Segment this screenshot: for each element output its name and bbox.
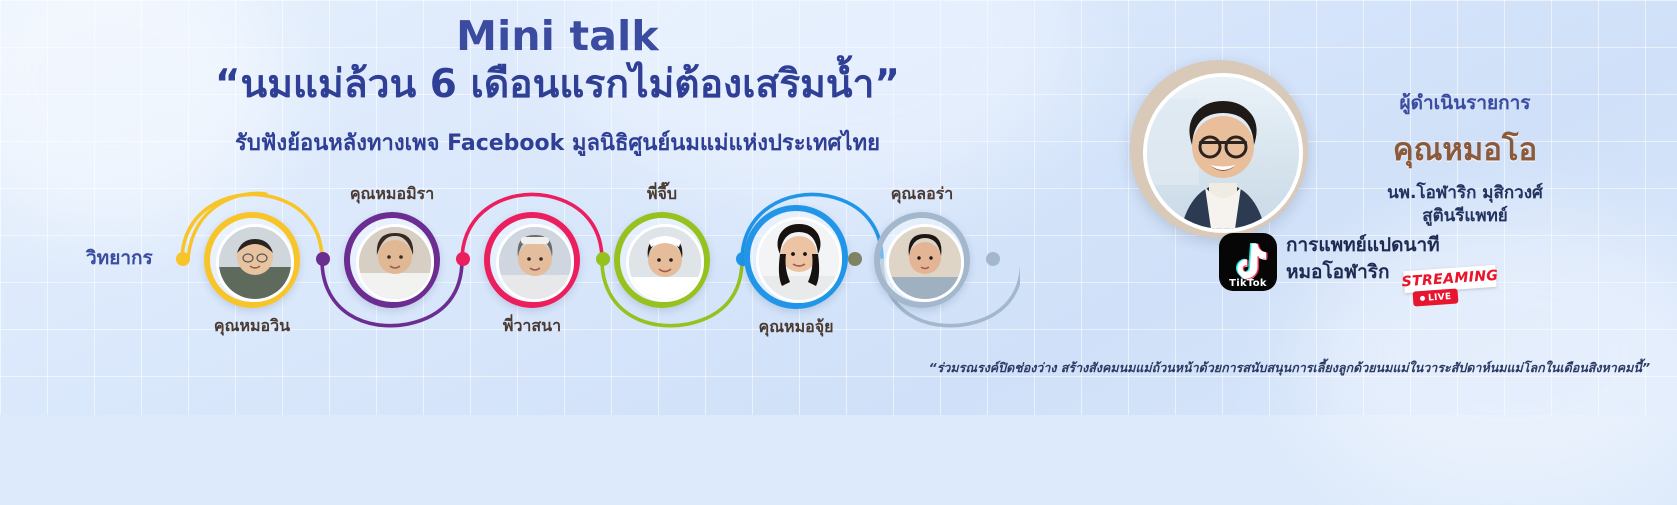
subtitle: รับฟังย้อนหลังทางเพจ Facebook มูลนิธิศูน… [0, 125, 1115, 160]
speakers-section-label: วิทยากร [86, 243, 153, 273]
topic-title: “นมแม่ล้วน 6 เดือนแรกไม่ต้องเสริมน้ำ” [0, 62, 1115, 109]
connector-dot-6 [848, 252, 862, 266]
speaker-4-name: พี่จี๊บ [582, 182, 742, 207]
speaker-1-avatar [216, 224, 294, 302]
connector-dot-2 [316, 252, 330, 266]
connector-dot-3 [456, 252, 470, 266]
streaming-label: STREAMING [1401, 268, 1499, 291]
live-badge: LIVE [1413, 288, 1459, 306]
tiktok-channel-line1: การแพทย์แปดนาที [1286, 232, 1440, 259]
banner-canvas: Mini talk “นมแม่ล้วน 6 เดือนแรกไม่ต้องเส… [0, 0, 1677, 415]
speaker-5-avatar [756, 217, 842, 303]
header-block: Mini talk “นมแม่ล้วน 6 เดือนแรกไม่ต้องเส… [0, 14, 1115, 160]
speaker-3-avatar [496, 224, 574, 302]
speaker-5-name: คุณหมอจุ้ย [716, 315, 876, 340]
speaker-3-name: พี่วาสนา [452, 314, 612, 339]
footnote: “ร่วมรณรงค์ปิดช่องว่าง สร้างสังคมนมแม่ถ้… [840, 358, 1650, 378]
tiktok-wordmark: TikTok [1219, 278, 1277, 289]
host-full-name: นพ.โอฬาริก มุสิกวงศ์ [1300, 182, 1630, 205]
live-dot-icon [1420, 296, 1425, 301]
host-role-label: ผู้ดำเนินรายการ [1300, 88, 1630, 118]
speaker-2-name: คุณหมอมิรา [312, 182, 472, 207]
speaker-1-name: คุณหมอวิน [172, 314, 332, 339]
speaker-2-avatar [356, 224, 434, 302]
speaker-6-avatar [886, 224, 964, 302]
speaker-6-name: คุณลอร่า [842, 182, 1002, 207]
host-info: ผู้ดำเนินรายการ คุณหมอโอ นพ.โอฬาริก มุสิ… [1300, 88, 1630, 228]
live-label: LIVE [1428, 291, 1452, 303]
host-name: คุณหมอโอ [1300, 124, 1630, 174]
host-specialty: สูตินรีแพทย์ [1300, 205, 1630, 228]
speaker-4-avatar [626, 224, 704, 302]
connector-dot-7 [986, 252, 1000, 266]
page-title: Mini talk [0, 14, 1115, 60]
connector-dot-1 [176, 252, 190, 266]
host-avatar [1143, 73, 1303, 233]
connector-dot-4 [596, 252, 610, 266]
